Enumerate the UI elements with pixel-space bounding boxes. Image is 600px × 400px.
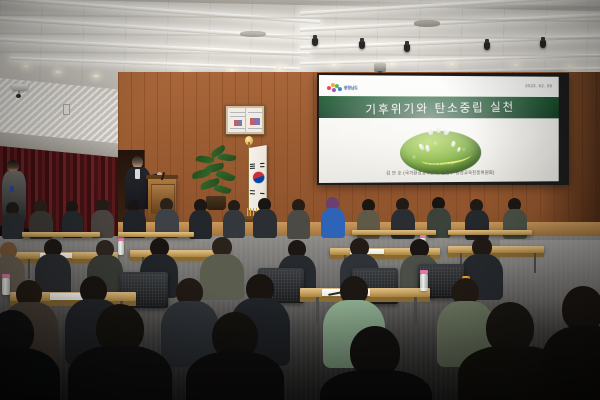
slide-org-logo: 충청남도: [327, 82, 358, 94]
slide-presenter: 김 안 호 (국가환경교육센터, 환경부·환경교육진흥위원회): [319, 170, 559, 177]
trigram: [260, 163, 264, 164]
plant-leaf: [213, 183, 231, 196]
track-spotlight: [540, 40, 546, 48]
attendee-body: [0, 348, 60, 400]
recessed-downlight: [512, 63, 520, 67]
track-spotlight: [404, 44, 410, 52]
plaque-right-page: [246, 108, 263, 132]
trigram: [250, 168, 255, 169]
attendee-body: [320, 370, 432, 400]
slide-org-logo-text: 충청남도: [344, 86, 358, 91]
plaque-left-page: [228, 108, 245, 132]
ceiling-vent: [414, 20, 440, 27]
ceiling-projector: [374, 63, 386, 72]
trigram: [260, 193, 264, 194]
slide-date: 2023. 02. 09: [525, 83, 552, 88]
trigram: [260, 166, 264, 167]
track-spotlight: [359, 41, 365, 49]
attendee-body: [542, 326, 600, 400]
lecture-hall-photo: 충청남도 2023. 02. 09 기후위기와 탄소중립 실천 국가환경교육센터…: [0, 0, 600, 400]
projection-screen: 충청남도 2023. 02. 09 기후위기와 탄소중립 실천 국가환경교육센터…: [319, 75, 559, 183]
recessed-downlight: [388, 62, 396, 66]
recessed-downlight: [22, 64, 30, 68]
track-spotlight: [312, 38, 318, 46]
recessed-downlight: [92, 74, 100, 78]
plant-leaf: [192, 169, 212, 180]
recessed-downlight: [566, 65, 574, 69]
framed-wall-plaque: [225, 105, 265, 135]
security-camera-lens: [16, 94, 21, 98]
logo-dots-icon: [327, 83, 341, 93]
track-spotlight: [484, 42, 490, 50]
trigram: [250, 193, 255, 194]
audience-row: [0, 300, 600, 400]
recessed-downlight: [330, 63, 338, 67]
security-camera: [12, 84, 28, 90]
attendee-body: [186, 352, 284, 400]
recessed-downlight: [276, 66, 284, 70]
attendee-lanyard: [10, 186, 14, 192]
ceiling-vent: [240, 31, 266, 37]
slide-credit: 국가환경교육센터: [319, 162, 559, 169]
projection-screen-frame: 충청남도 2023. 02. 09 기후위기와 탄소중립 실천 국가환경교육센터…: [317, 73, 569, 185]
wall-speaker: [63, 104, 70, 115]
taeguk-circle: [253, 171, 265, 183]
presenter-shirt: [135, 169, 140, 179]
recessed-downlight: [54, 70, 62, 74]
attendee-body: [68, 346, 172, 400]
plant-leaf: [217, 152, 236, 163]
trigram: [250, 190, 255, 191]
recessed-downlight: [448, 62, 456, 66]
